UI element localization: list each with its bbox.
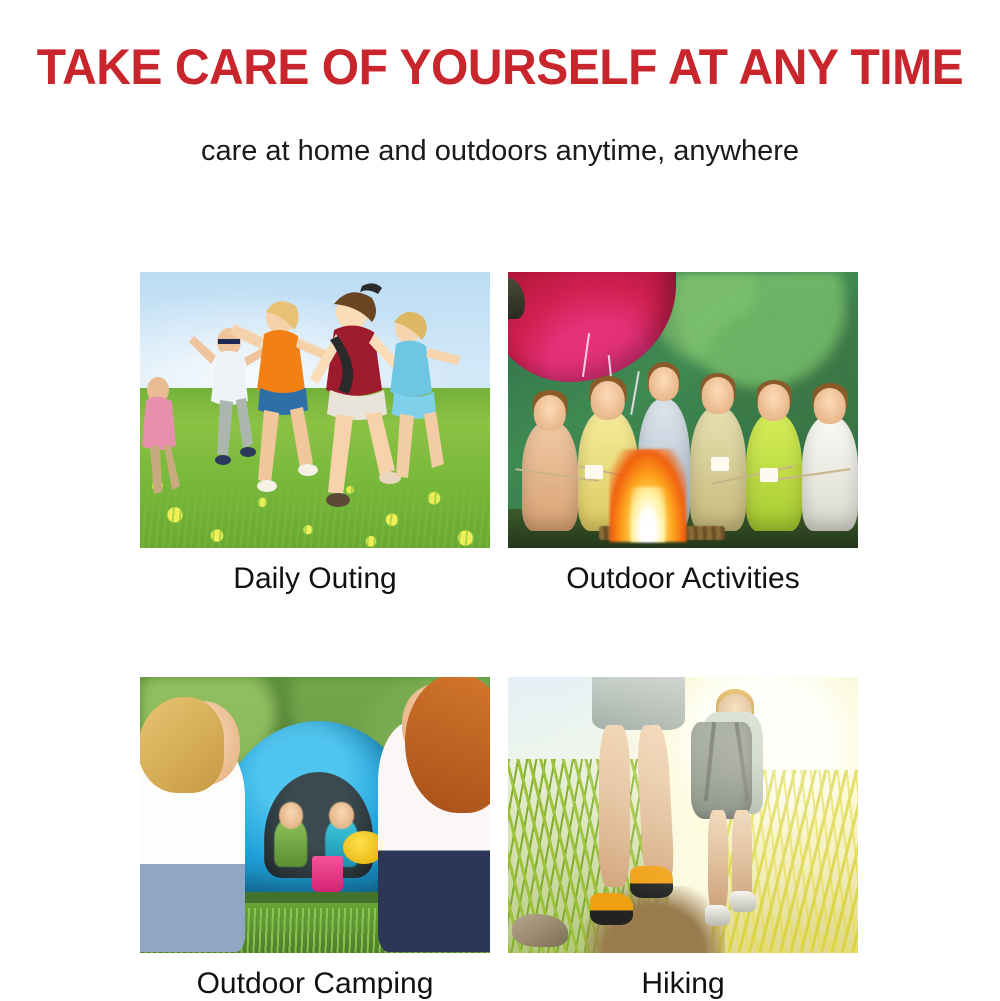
caption-outdoor-activities: Outdoor Activities [508,562,858,597]
photo-hiking [508,677,858,953]
pink-cup [312,856,344,892]
head [591,381,626,420]
photo-outdoor-camping [140,677,490,953]
gallery-row: Daily Outing [140,272,858,597]
photo-outdoor-activities [508,272,858,548]
marshmallow [711,457,729,471]
hair [405,677,490,814]
hair [140,697,224,793]
campfire-core [631,487,666,542]
page-subtitle: care at home and outdoors anytime, anywh… [0,135,1000,168]
head [534,395,566,431]
girl-figure-left [140,743,245,953]
head [649,367,679,401]
caption-outdoor-camping: Outdoor Camping [140,967,490,1001]
head [702,377,734,413]
toddler-figure [275,819,308,868]
head [279,802,303,829]
promo-page: TAKE CARE OF YOURSELF AT ANY TIME care a… [0,0,1000,1000]
gallery-cell-hiking: Hiking [508,677,858,1001]
gallery-cell-outdoor-activities: Outdoor Activities [508,272,858,597]
page-title: TAKE CARE OF YOURSELF AT ANY TIME [20,40,980,95]
gallery-cell-outdoor-camping: Outdoor Camping [140,677,490,1001]
running-children-figures [140,272,490,548]
scene-gallery: Daily Outing [140,272,858,1001]
head [329,802,353,829]
girl-figure-right [378,721,490,953]
head [814,388,846,424]
head [758,384,790,420]
caption-daily-outing: Daily Outing [140,562,490,597]
tent-door [508,278,525,319]
caption-hiking: Hiking [508,967,858,1001]
photo-daily-outing [140,272,490,548]
backlight-haze [508,677,858,953]
gallery-cell-daily-outing: Daily Outing [140,272,490,597]
marshmallow [585,465,603,479]
gallery-row: Outdoor Camping [140,677,858,1001]
marshmallow [760,468,778,482]
